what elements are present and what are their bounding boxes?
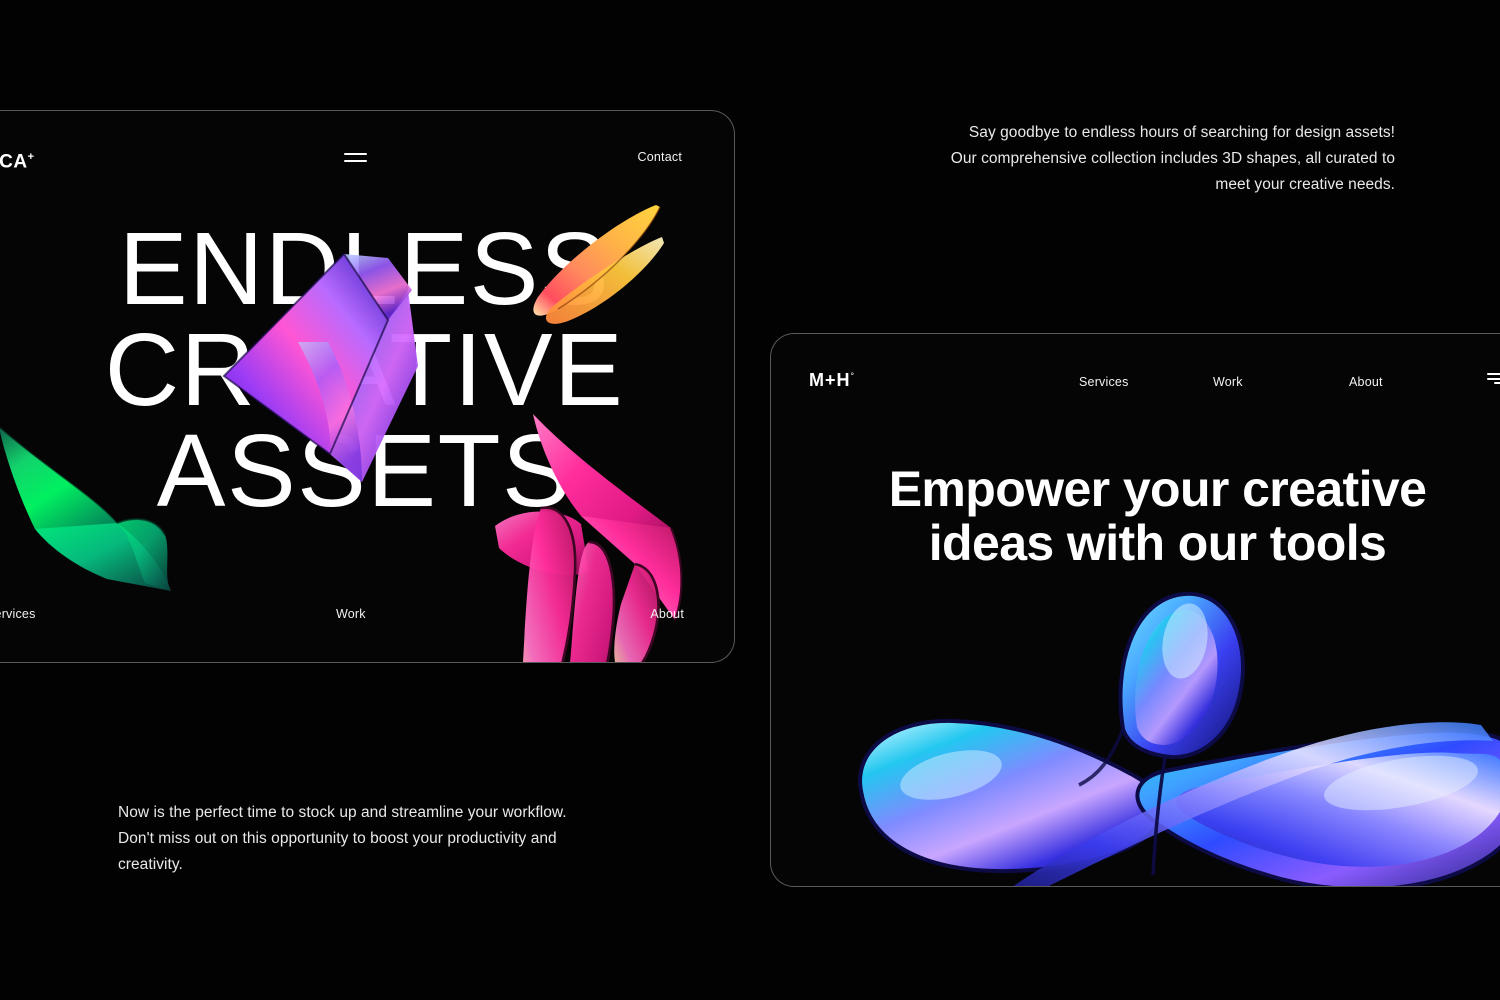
left-showcase-card: ECA+ Contact ENDLESS CREATIVE ASSETS Ser…: [0, 110, 735, 663]
left-card-header: ECA+ Contact: [0, 111, 734, 207]
hamburger-line: [344, 153, 367, 155]
paragraph-top-right: Say goodbye to endless hours of searchin…: [940, 120, 1395, 198]
left-card-logo-mark: +: [28, 151, 35, 163]
blue-loop-3d-shape: [841, 579, 1500, 887]
right-showcase-card: M+H° Services Work About Empower your cr…: [770, 333, 1500, 887]
hamburger-line: [1494, 382, 1500, 384]
right-heading-line-1: Empower your creative: [771, 462, 1500, 516]
right-card-header: M+H° Services Work About: [771, 334, 1500, 432]
page-canvas: ECA+ Contact ENDLESS CREATIVE ASSETS Ser…: [0, 0, 1500, 1000]
nav-item-services[interactable]: Services: [1079, 375, 1129, 389]
footer-nav-item-about[interactable]: About: [650, 607, 684, 621]
headline-line-2: CREATIVE: [0, 320, 734, 421]
violet-cone-shape: [212, 246, 422, 521]
right-card-logo-text: M+H: [809, 370, 851, 390]
hamburger-menu-icon[interactable]: [1487, 373, 1500, 384]
right-card-heading: Empower your creative ideas with our too…: [771, 462, 1500, 570]
nav-item-work[interactable]: Work: [1213, 375, 1243, 389]
headline-line-1: ENDLESS: [0, 219, 734, 320]
hamburger-menu-icon[interactable]: [344, 153, 367, 162]
right-card-logo[interactable]: M+H°: [809, 370, 855, 391]
headline-line-3: ASSETS: [0, 421, 734, 522]
nav-item-about[interactable]: About: [1349, 375, 1383, 389]
hamburger-line: [1487, 373, 1500, 375]
nav-item-contact[interactable]: Contact: [638, 150, 682, 164]
footer-nav-item-work[interactable]: Work: [336, 607, 366, 621]
left-card-logo[interactable]: ECA+: [0, 151, 35, 173]
left-card-footer-nav: Services Work About: [0, 574, 734, 662]
right-heading-line-2: ideas with our tools: [771, 516, 1500, 570]
footer-nav-item-services[interactable]: Services: [0, 607, 36, 621]
hamburger-line: [1487, 378, 1500, 380]
orange-blade-shape: [528, 203, 666, 331]
paragraph-bottom-left: Now is the perfect time to stock up and …: [118, 800, 588, 878]
hamburger-line: [344, 160, 367, 162]
right-card-logo-mark: °: [851, 371, 856, 381]
left-card-logo-text: ECA: [0, 151, 28, 172]
left-card-headline: ENDLESS CREATIVE ASSETS: [0, 219, 734, 522]
